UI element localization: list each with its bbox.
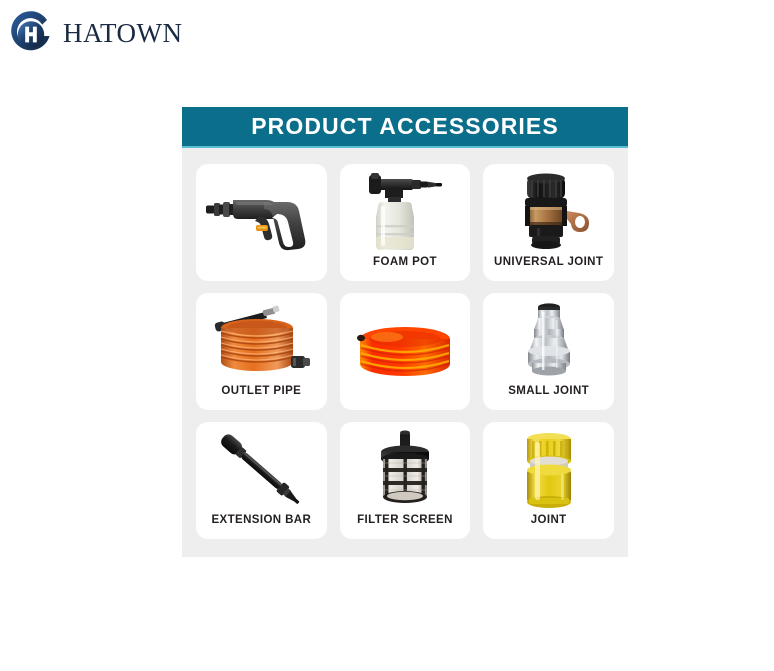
accessory-label: SMALL JOINT [508,386,589,411]
outlet-pipe-coil-icon [196,293,327,386]
accessory-card-extension-bar[interactable]: EXTENSION BAR [196,422,327,539]
accessory-label: FOAM POT [373,257,437,282]
accessory-card-universal-joint[interactable]: UNIVERSAL JOINT [483,164,614,281]
spray-gun-icon [196,164,327,281]
filter-screen-icon [340,422,471,515]
brand-header: HATOWN [8,10,183,56]
foam-pot-icon [340,164,471,257]
accessory-label: UNIVERSAL JOINT [494,257,603,282]
accessory-card-foam-pot[interactable]: FOAM POT [340,164,471,281]
universal-joint-icon [483,164,614,257]
accessory-card-joint[interactable]: JOINT [483,422,614,539]
accessory-label: OUTLET PIPE [221,386,301,411]
panel-title-bar: PRODUCT ACCESSORIES [182,107,628,148]
brand-wordmark: HATOWN [63,20,183,47]
accessory-card-small-joint[interactable]: SMALL JOINT [483,293,614,410]
accessory-card-red-hose-coil[interactable] [340,293,471,410]
joint-icon [483,422,614,515]
extension-bar-icon [196,422,327,515]
red-hose-coil-icon [340,293,471,410]
accessory-card-outlet-pipe[interactable]: OUTLET PIPE [196,293,327,410]
accessory-label: JOINT [531,515,567,540]
product-accessories-panel: PRODUCT ACCESSORIES [182,107,628,557]
accessory-label: EXTENSION BAR [211,515,311,540]
accessory-card-spray-gun[interactable] [196,164,327,281]
accessory-card-filter-screen[interactable]: FILTER SCREEN [340,422,471,539]
accessory-label: FILTER SCREEN [357,515,453,540]
hatown-circle-h-logo-icon [8,10,54,56]
accessories-grid: FOAM POT [182,148,628,557]
page-title: PRODUCT ACCESSORIES [251,115,559,138]
small-joint-icon [483,293,614,386]
